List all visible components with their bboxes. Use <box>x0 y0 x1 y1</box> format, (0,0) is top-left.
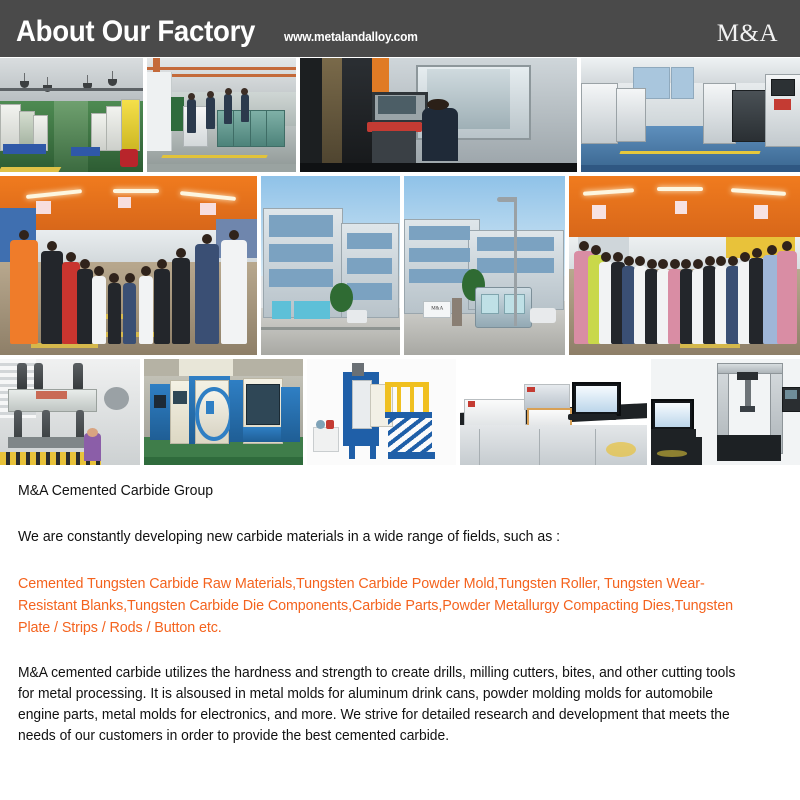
product-list: Cemented Tungsten Carbide Raw Materials,… <box>18 573 748 639</box>
gallery-row-company-team: M&A <box>0 172 800 355</box>
photo-lab-test-bench <box>460 359 647 465</box>
photo-factory-building <box>261 176 400 355</box>
description-paragraph: M&A cemented carbide utilizes the hardne… <box>18 663 748 747</box>
header-inner: About Our Factory www.metalandalloy.com … <box>0 17 800 57</box>
website-url: www.metalandalloy.com <box>284 30 418 43</box>
intro-paragraph: We are constantly developing new carbide… <box>18 527 736 547</box>
gallery-row-manufacturing <box>0 57 800 172</box>
photo-machine-shop <box>147 58 297 172</box>
building-sign: M&A <box>423 301 451 317</box>
photo-hydraulic-press <box>0 359 140 465</box>
photo-group-photo <box>569 176 800 355</box>
content-section: M&A Cemented Carbide Group We are consta… <box>0 465 800 747</box>
page-title: About Our Factory <box>16 17 255 47</box>
gallery-row-equipment-lab <box>0 355 800 465</box>
company-name-heading: M&A Cemented Carbide Group <box>18 481 736 501</box>
about-our-factory-page: About Our Factory www.metalandalloy.com … <box>0 0 800 800</box>
photo-cnc-operator <box>300 58 576 172</box>
photo-factory-gate: M&A <box>404 176 565 355</box>
building-sign-text: M&A <box>424 307 450 312</box>
photo-gallery: M&A <box>0 57 800 465</box>
photo-office-team-line <box>0 176 257 355</box>
company-logo: M&A <box>717 21 778 46</box>
photo-edm-room <box>581 58 800 172</box>
photo-tensile-tester <box>651 359 800 465</box>
photo-factory-aisle <box>0 58 143 172</box>
photo-sintering-furnace <box>144 359 303 465</box>
page-header: About Our Factory www.metalandalloy.com … <box>0 0 800 57</box>
photo-isostatic-press <box>307 359 456 465</box>
